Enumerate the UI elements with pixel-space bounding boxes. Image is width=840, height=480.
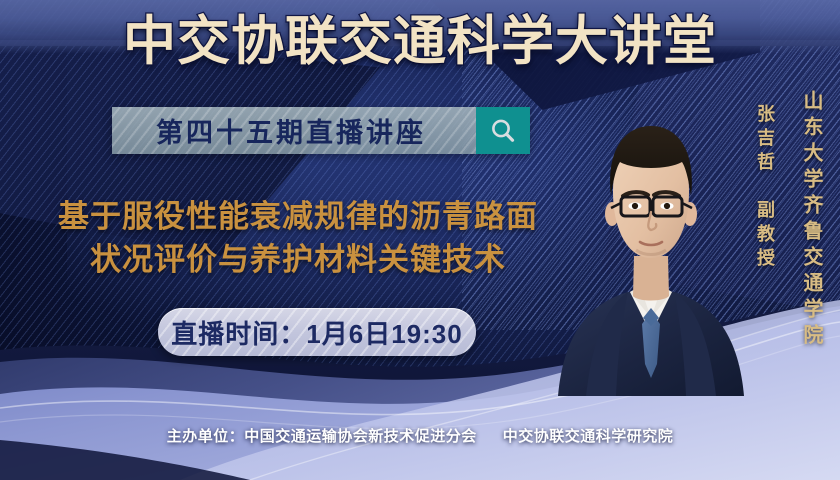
search-glyph bbox=[488, 116, 518, 146]
broadcast-time-text: 直播时间：1月6日19:30 bbox=[171, 314, 462, 351]
live-lecture-poster: 山东大学齐鲁交通学院 张吉哲 副教授 中交协联交通科学大讲堂 第四十五期直播讲座… bbox=[0, 0, 840, 480]
search-icon[interactable] bbox=[476, 107, 530, 154]
lecture-title: 基于服役性能衰减规律的沥青路面 状况评价与养护材料关键技术 bbox=[18, 196, 578, 282]
footer-prefix: 主办单位： bbox=[167, 428, 245, 445]
footer-org-2: 中交协联交通科学研究院 bbox=[503, 428, 674, 445]
broadcast-time-badge: 直播时间：1月6日19:30 bbox=[158, 308, 476, 356]
lecture-title-line2: 状况评价与养护材料关键技术 bbox=[18, 239, 578, 282]
episode-label: 第四十五期直播讲座 bbox=[112, 107, 476, 154]
speaker-name-title: 张吉哲 副教授 bbox=[752, 104, 778, 272]
page-title: 中交协联交通科学大讲堂 bbox=[0, 14, 840, 70]
speaker-portrait bbox=[556, 96, 746, 396]
footer-organizers: 主办单位：中国交通运输协会新技术促进分会中交协联交通科学研究院 bbox=[0, 425, 840, 446]
footer-org-1: 中国交通运输协会新技术促进分会 bbox=[244, 428, 477, 445]
portrait-svg bbox=[556, 96, 746, 396]
episode-banner: 第四十五期直播讲座 bbox=[112, 107, 530, 154]
lecture-title-line1: 基于服役性能衰减规律的沥青路面 bbox=[58, 199, 538, 234]
speaker-affiliation: 山东大学齐鲁交通学院 bbox=[797, 90, 826, 350]
